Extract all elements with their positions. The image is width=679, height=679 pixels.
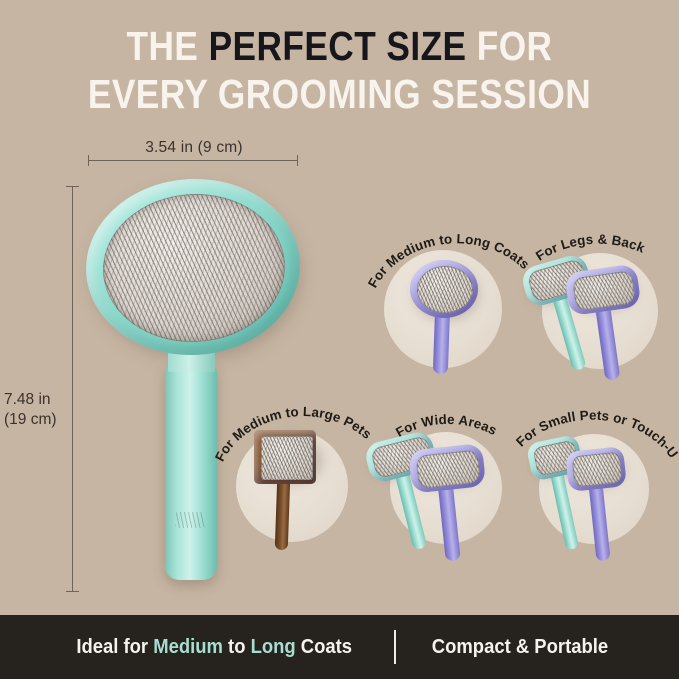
footer-highlight-medium: Medium bbox=[154, 635, 224, 658]
thumb-brush-purple bbox=[565, 444, 651, 569]
width-measurement-cap-left bbox=[88, 155, 89, 166]
thumb-brush-pins bbox=[261, 436, 313, 480]
thumb-brush-handle bbox=[588, 480, 610, 561]
thumbnail-small-pets-or-touch-up: For Small Pets or Touch-Up bbox=[515, 388, 673, 560]
thumbnail-medium-to-long-coats: For Medium to Long Coats bbox=[368, 212, 518, 372]
footer-bar: Ideal for Medium to Long Coats Compact &… bbox=[0, 615, 679, 679]
footer-left-part1: Ideal for bbox=[77, 635, 154, 658]
thumbnail-legs-and-back: For Legs & Back bbox=[520, 205, 679, 375]
thumb-brush-handle bbox=[437, 480, 460, 561]
headline-for: FOR bbox=[466, 23, 552, 69]
thumbnail-wide-areas: For Wide Areas bbox=[370, 388, 522, 558]
footer-left-part3: Coats bbox=[296, 635, 352, 658]
thumb-brush-handle bbox=[595, 302, 621, 381]
height-measurement-cap-top bbox=[66, 186, 79, 187]
thumb-brush-pins bbox=[417, 266, 473, 313]
main-brush-handle bbox=[165, 364, 217, 580]
thumb-brush-pins bbox=[416, 450, 481, 489]
thumb-brush-purple bbox=[408, 258, 488, 374]
page-title: THE PERFECT SIZE FOR EVERY GROOMING SESS… bbox=[48, 22, 632, 118]
footer-divider bbox=[394, 630, 396, 664]
height-measurement-label: 7.48 in (19 cm) bbox=[4, 390, 68, 430]
thumb-brush-handle bbox=[275, 478, 291, 550]
headline-the: THE bbox=[127, 23, 209, 69]
footer-left-part2: to bbox=[223, 635, 251, 658]
brand-logo-icon bbox=[175, 512, 205, 528]
footer-highlight-long: Long bbox=[251, 635, 296, 658]
width-measurement-line bbox=[88, 160, 298, 161]
thumbnail-medium-to-large-pets: For Medium to Large Pets bbox=[218, 388, 368, 553]
thumb-brush-purple bbox=[564, 262, 666, 391]
footer-right-text: Compact & Portable bbox=[432, 635, 608, 659]
headline-line-1: THE PERFECT SIZE FOR bbox=[48, 22, 632, 70]
thumb-brush-pins bbox=[572, 452, 623, 488]
height-measurement-line bbox=[72, 186, 73, 592]
headline-perfect-size: PERFECT SIZE bbox=[209, 23, 467, 69]
width-measurement-cap-right bbox=[297, 155, 298, 166]
thumb-brush-purple bbox=[408, 442, 506, 568]
width-measurement-label: 3.54 in (9 cm) bbox=[88, 139, 300, 157]
footer-left-text: Ideal for Medium to Long Coats bbox=[77, 635, 353, 659]
headline-line-2: EVERY GROOMING SESSION bbox=[48, 70, 632, 118]
height-measurement-label-line1: 7.48 in bbox=[4, 390, 68, 410]
height-measurement-label-line2: (19 cm) bbox=[4, 410, 68, 430]
thumb-brush-wood bbox=[254, 430, 344, 550]
height-measurement-cap-bottom bbox=[66, 591, 79, 592]
product-infographic: THE PERFECT SIZE FOR EVERY GROOMING SESS… bbox=[0, 0, 679, 679]
